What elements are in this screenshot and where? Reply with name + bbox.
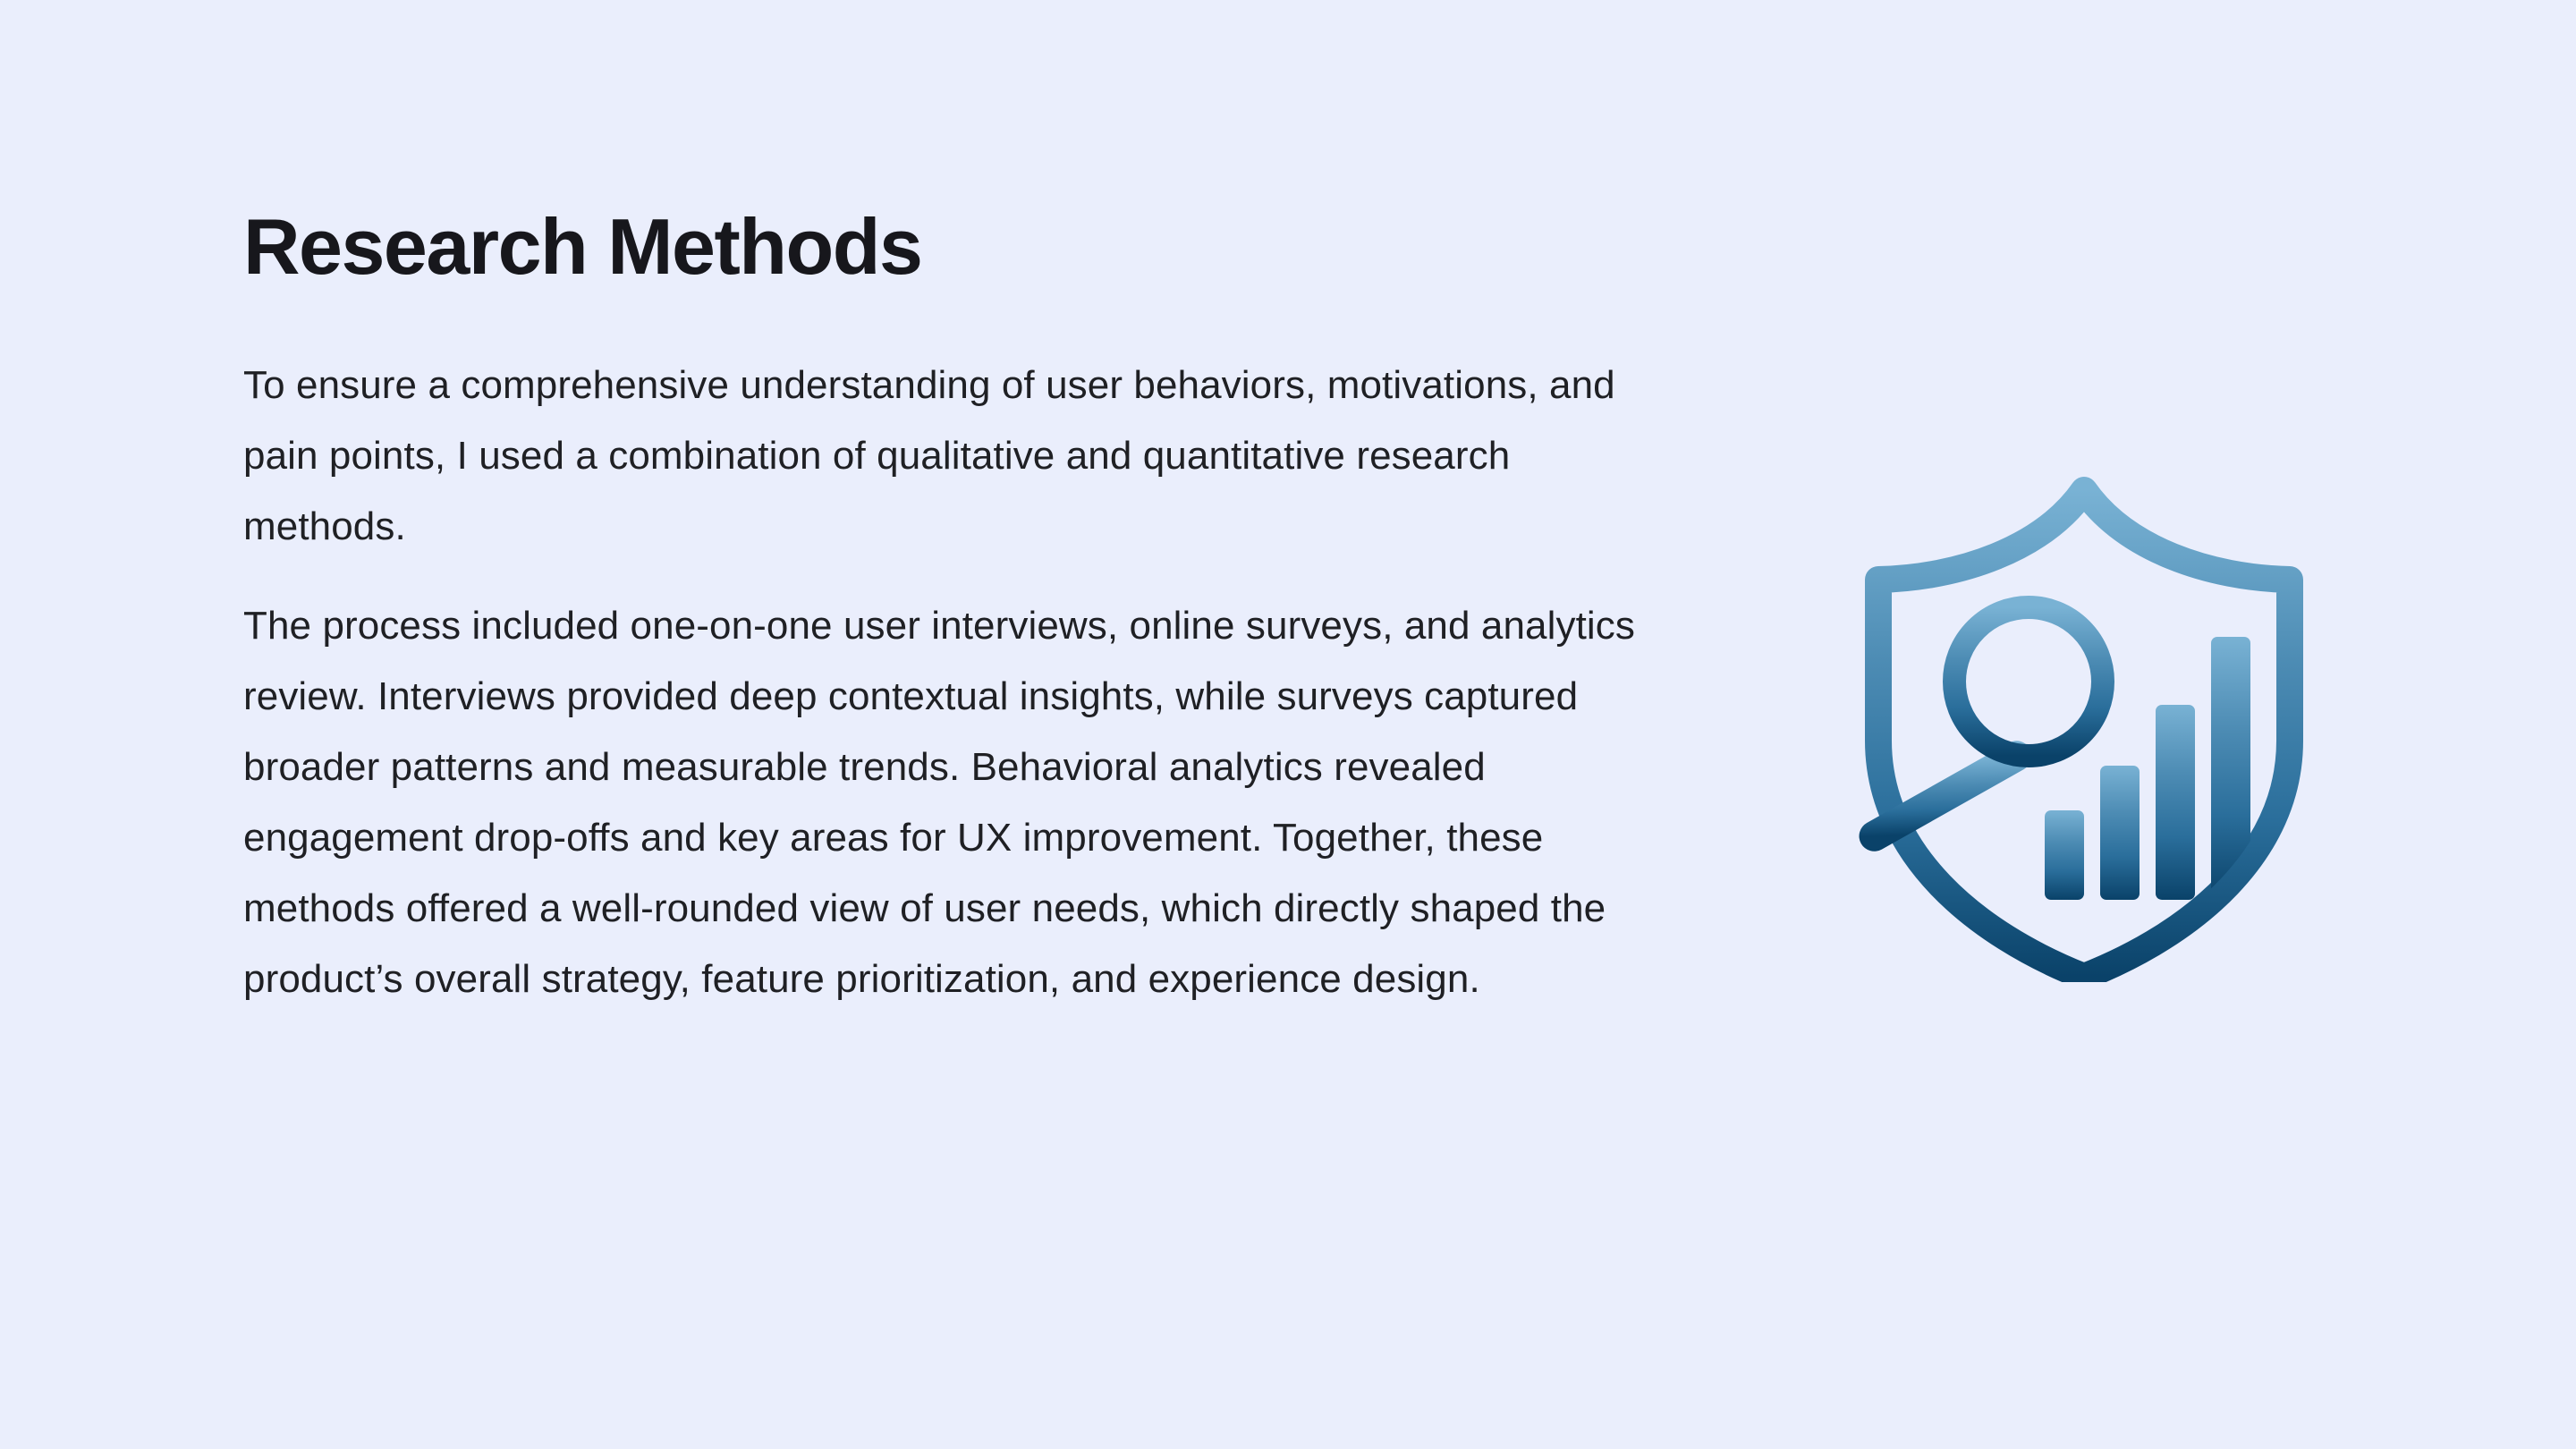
body-copy: To ensure a comprehensive understanding … [243,350,1692,1014]
page-title: Research Methods [243,204,1692,289]
shield-analytics-icon [1853,470,2315,982]
bar-chart [2045,637,2250,900]
shield-analytics-svg [1853,470,2315,982]
paragraph-2: The process included one-on-one user int… [243,590,1665,1014]
bar-3 [2156,705,2195,900]
bar-2 [2100,766,2140,900]
paragraph-1: To ensure a comprehensive understanding … [243,350,1665,562]
magnifier-circle [1954,607,2103,756]
slide-root: Research Methods To ensure a comprehensi… [0,0,2576,1449]
text-column: Research Methods To ensure a comprehensi… [243,204,1692,1014]
bar-1 [2045,810,2084,900]
